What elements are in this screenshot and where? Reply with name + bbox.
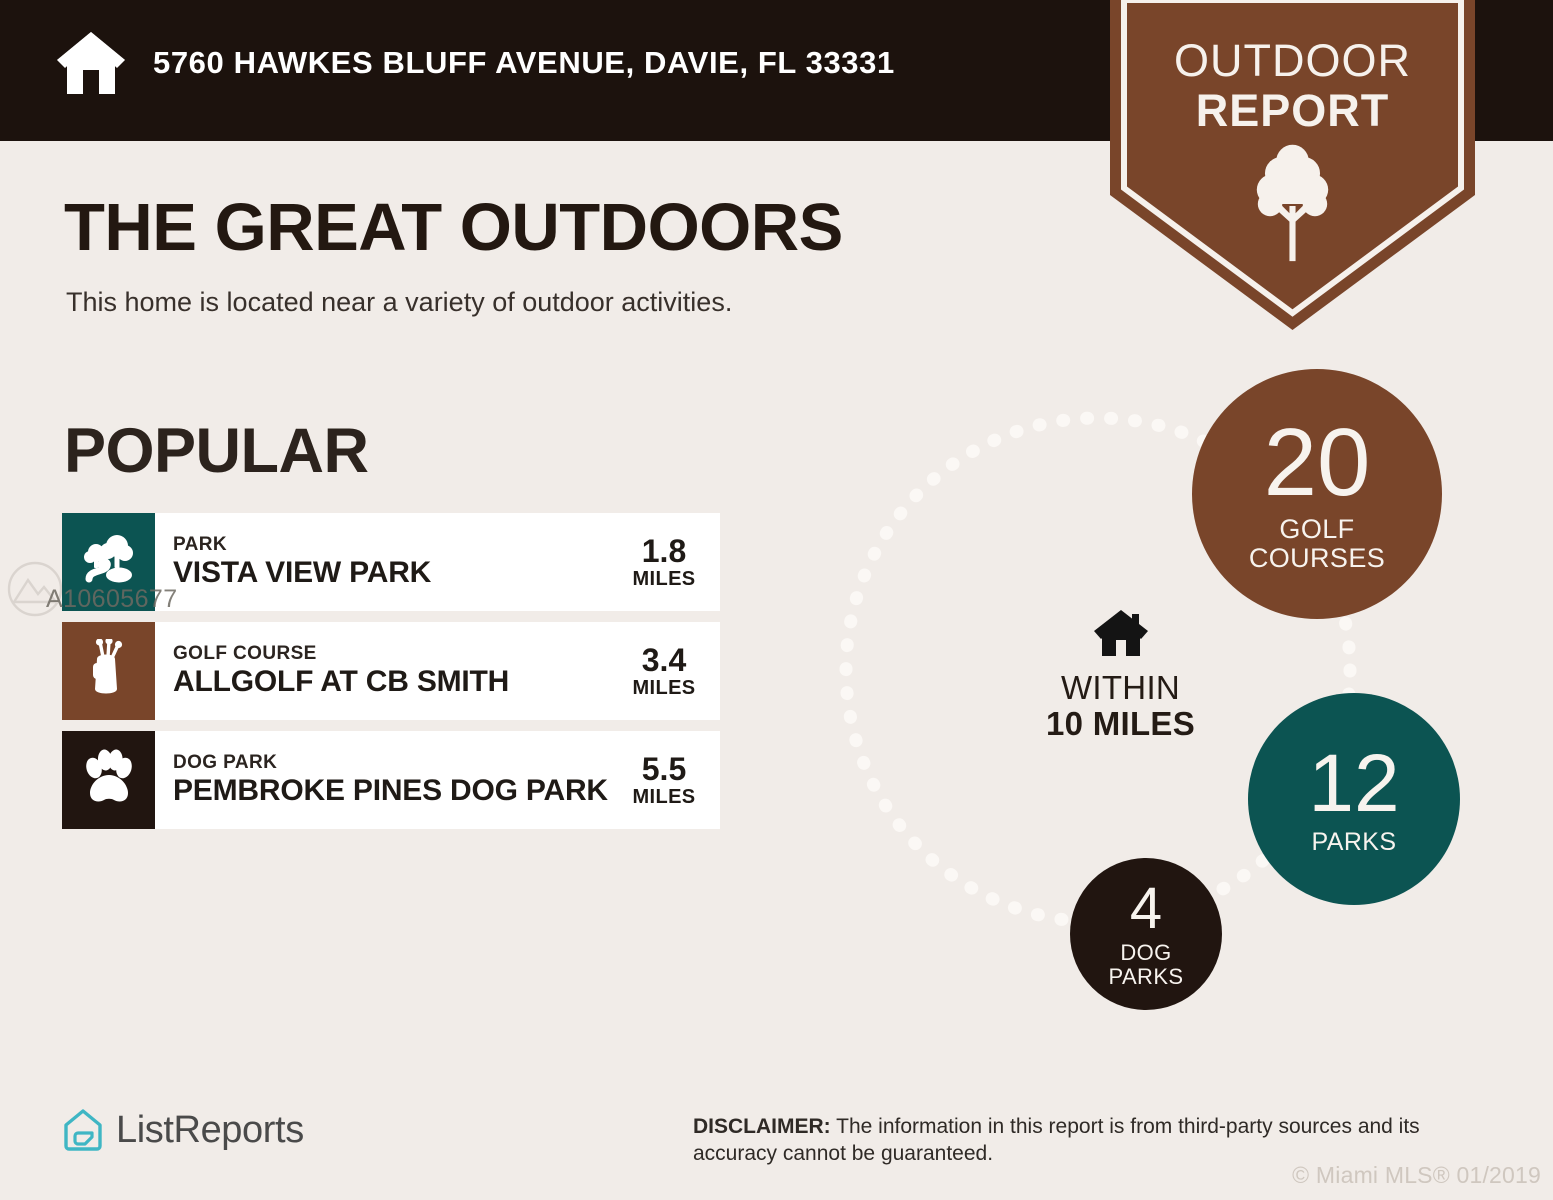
within-line-1: WITHIN <box>1018 670 1223 706</box>
popular-list: PARK VISTA VIEW PARK 1.8 MILES <box>62 513 720 840</box>
list-item-name: PEMBROKE PINES DOG PARK <box>173 774 616 808</box>
golf-bag-icon <box>81 639 137 704</box>
list-item-name: ALLGOLF AT CB SMITH <box>173 665 616 699</box>
list-item-icon-tile <box>62 731 155 829</box>
stat-value: 20 <box>1264 415 1371 511</box>
header-content: 5760 HAWKES BLUFF AVENUE, DAVIE, FL 3333… <box>55 30 895 96</box>
list-item-distance: 3.4 <box>642 643 686 677</box>
stat-value: 4 <box>1130 880 1162 938</box>
listreports-wordmark: ListReports <box>116 1109 304 1152</box>
property-address: 5760 HAWKES BLUFF AVENUE, DAVIE, FL 3333… <box>153 45 895 81</box>
stat-value: 12 <box>1308 743 1399 825</box>
disclaimer-label: DISCLAIMER: <box>693 1115 831 1138</box>
list-item-unit: MILES <box>632 568 695 591</box>
list-item-unit: MILES <box>632 786 695 809</box>
stat-label-line-1: DOG <box>1109 941 1184 964</box>
stat-circle-parks[interactable]: 12 PARKS <box>1248 693 1460 905</box>
listreports-logo[interactable]: ListReports <box>62 1108 304 1152</box>
list-item-category: PARK <box>173 534 616 556</box>
list-item-name: VISTA VIEW PARK <box>173 556 616 590</box>
stat-circle-dog-parks[interactable]: 4 DOG PARKS <box>1070 858 1222 1010</box>
stat-label: PARKS <box>1312 829 1397 856</box>
list-item-category: GOLF COURSE <box>173 643 616 665</box>
home-icon <box>1018 608 1223 660</box>
stat-label-line-2: PARKS <box>1109 965 1184 988</box>
stat-label: DOG PARKS <box>1109 941 1184 988</box>
list-item-unit: MILES <box>632 677 695 700</box>
list-item[interactable]: DOG PARK PEMBROKE PINES DOG PARK 5.5 MIL… <box>62 731 720 829</box>
list-item-text: DOG PARK PEMBROKE PINES DOG PARK <box>155 731 616 829</box>
stat-circle-golf-courses[interactable]: 20 GOLF COURSES <box>1192 369 1442 619</box>
list-item-text: GOLF COURSE ALLGOLF AT CB SMITH <box>155 622 616 720</box>
list-item-distance: 1.8 <box>642 534 686 568</box>
list-item-distance-block: 5.5 MILES <box>616 731 720 829</box>
stat-label-line-1: GOLF <box>1249 515 1385 544</box>
popular-heading: POPULAR <box>64 415 369 487</box>
list-item[interactable]: GOLF COURSE ALLGOLF AT CB SMITH 3.4 MILE… <box>62 622 720 720</box>
outdoor-report-badge: OUTDOOR REPORT <box>1110 0 1475 330</box>
within-line-2: 10 MILES <box>1018 706 1223 742</box>
page-title: THE GREAT OUTDOORS <box>64 191 843 265</box>
stat-label: GOLF COURSES <box>1249 515 1385 572</box>
disclaimer: DISCLAIMER: The information in this repo… <box>693 1113 1503 1167</box>
listreports-house-tag-icon <box>62 1108 104 1152</box>
home-icon <box>55 30 127 96</box>
list-item-distance-block: 3.4 MILES <box>616 622 720 720</box>
page-subtitle: This home is located near a variety of o… <box>66 285 732 319</box>
within-radius-label: WITHIN 10 MILES <box>1018 608 1223 742</box>
listing-id-watermark: A10605677 <box>46 585 178 614</box>
list-item-distance: 5.5 <box>642 752 686 786</box>
list-item-text: PARK VISTA VIEW PARK <box>155 513 616 611</box>
copyright-notice: © Miami MLS® 01/2019 <box>1292 1162 1541 1189</box>
list-item-distance-block: 1.8 MILES <box>616 513 720 611</box>
list-item-category: DOG PARK <box>173 752 616 774</box>
list-item-icon-tile <box>62 622 155 720</box>
stat-label-line-1: PARKS <box>1312 829 1397 856</box>
paw-print-icon <box>81 749 137 812</box>
stat-label-line-2: COURSES <box>1249 544 1385 573</box>
